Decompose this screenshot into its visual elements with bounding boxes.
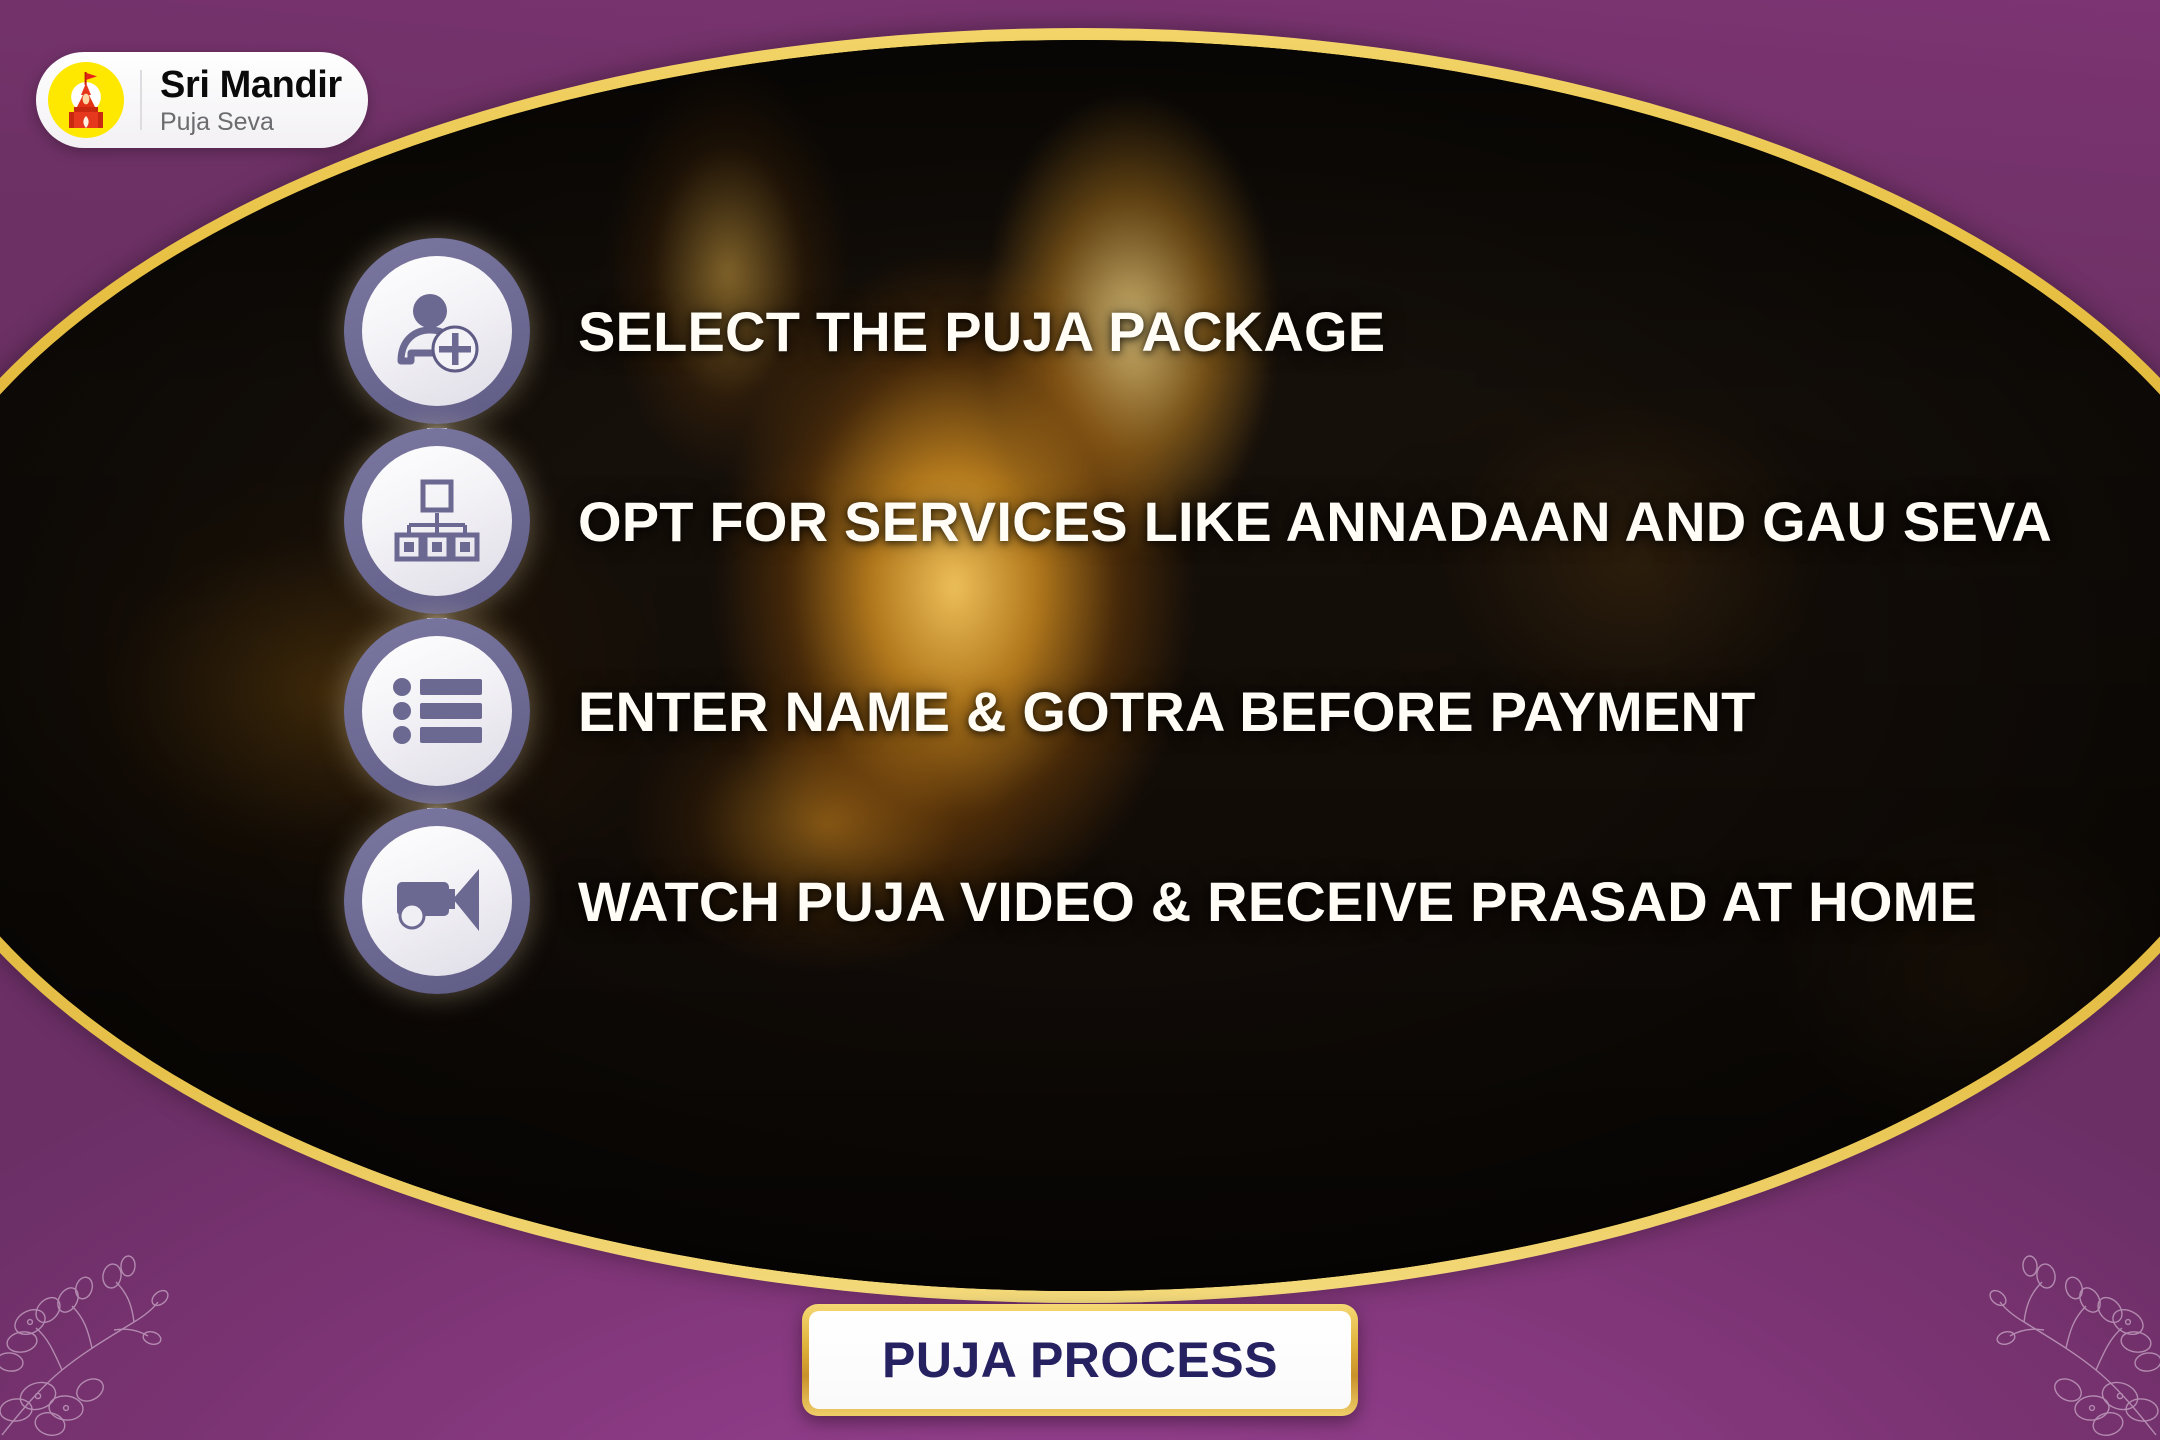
puja-process-banner[interactable]: PUJA PROCESS — [802, 1304, 1358, 1416]
temple-icon — [48, 62, 124, 138]
step-item-2[interactable]: OPT FOR SERVICES LIKE ANNADAAN AND GAU S… — [0, 426, 2160, 616]
video-camera-icon — [389, 853, 485, 949]
step-item-1[interactable]: SELECT THE PUJA PACKAGE — [0, 236, 2160, 426]
puja-process-infographic: Sri Mandir Puja Seva S — [0, 0, 2160, 1440]
step-label-1: SELECT THE PUJA PACKAGE — [578, 299, 1385, 364]
steps-list: SELECT THE PUJA PACKAGE — [0, 236, 2160, 996]
brand-tagline: Puja Seva — [160, 110, 342, 135]
banner-label: PUJA PROCESS — [882, 1331, 1278, 1389]
step-item-4[interactable]: WATCH PUJA VIDEO & RECEIVE PRASAD AT HOM… — [0, 806, 2160, 996]
hierarchy-icon — [389, 473, 485, 569]
step-item-3[interactable]: ENTER NAME & GOTRA BEFORE PAYMENT — [0, 616, 2160, 806]
step-label-2: OPT FOR SERVICES LIKE ANNADAAN AND GAU S… — [578, 489, 2052, 554]
step-label-3: ENTER NAME & GOTRA BEFORE PAYMENT — [578, 679, 1756, 744]
step-label-4: WATCH PUJA VIDEO & RECEIVE PRASAD AT HOM… — [578, 869, 1977, 934]
step-bullet-4 — [344, 808, 530, 994]
step-bullet-2 — [344, 428, 530, 614]
brand-name: Sri Mandir — [160, 66, 342, 104]
step-bullet-1 — [344, 238, 530, 424]
step-bullet-3 — [344, 618, 530, 804]
brand-badge[interactable]: Sri Mandir Puja Seva — [36, 52, 368, 148]
add-user-icon — [389, 283, 485, 379]
banner-inner: PUJA PROCESS — [809, 1311, 1351, 1409]
badge-divider — [140, 70, 142, 130]
list-icon — [389, 663, 485, 759]
